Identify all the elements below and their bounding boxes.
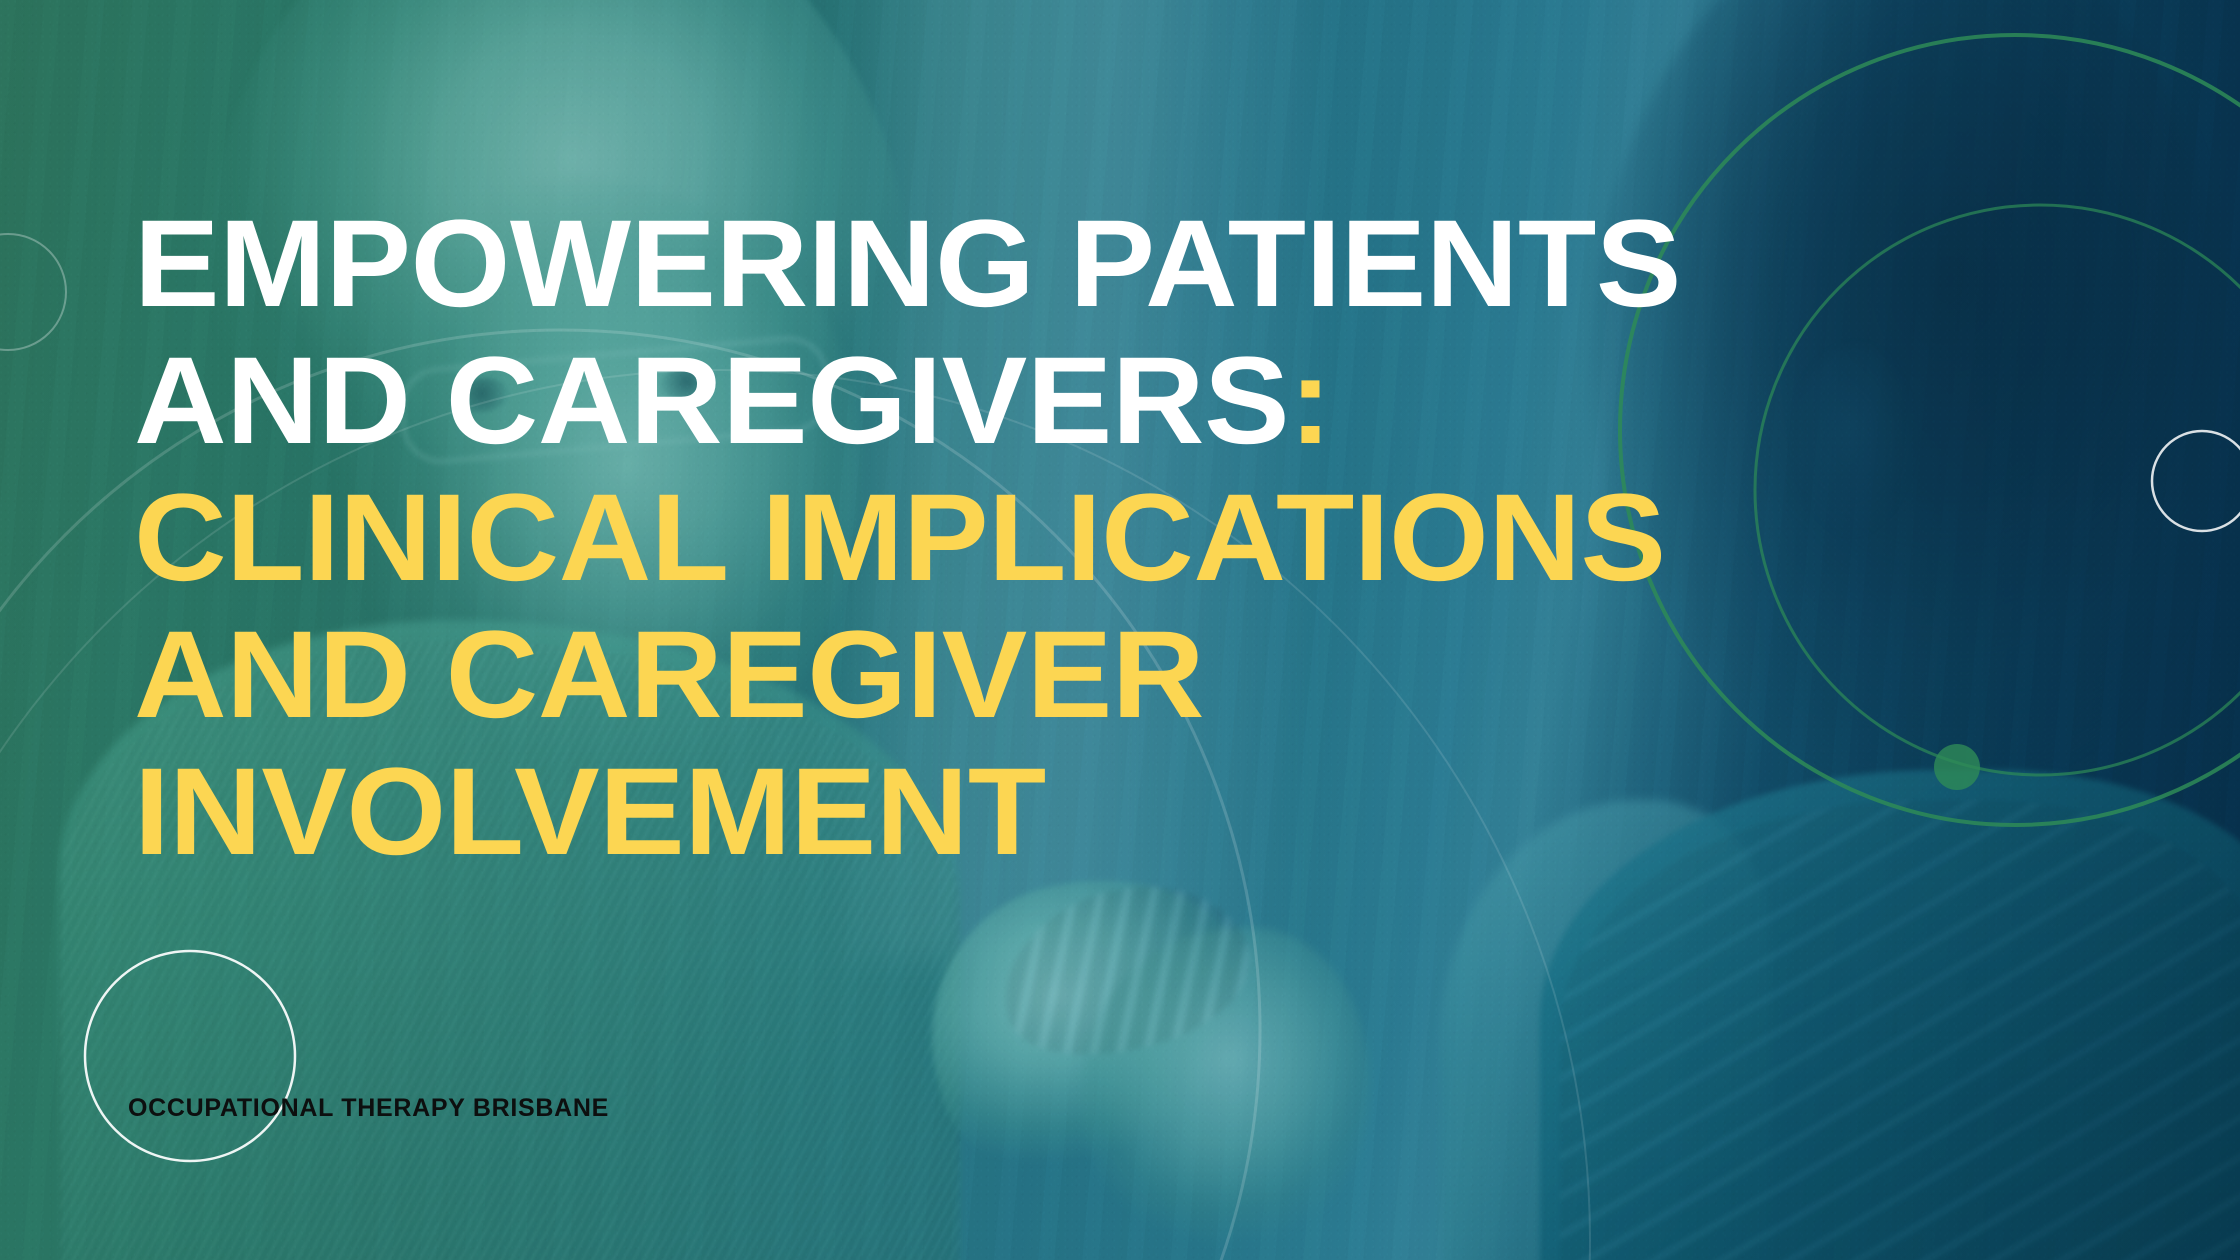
page-title: EMPOWERING PATIENTS AND CAREGIVERS: CLIN…: [134, 196, 2034, 881]
title-line-1: EMPOWERING PATIENTS: [134, 196, 2101, 333]
title-line-5: INVOLVEMENT: [134, 744, 2101, 881]
title-colon: :: [1289, 332, 1331, 470]
title-line-3: CLINICAL IMPLICATIONS: [134, 470, 2101, 607]
title-line-2: AND CAREGIVERS:: [134, 333, 2101, 470]
footer-organisation: OCCUPATIONAL THERAPY BRISBANE: [128, 1094, 609, 1123]
title-line-2-text: AND CAREGIVERS: [134, 332, 1289, 470]
title-line-4: AND CAREGIVER: [134, 607, 2101, 744]
title-slide: EMPOWERING PATIENTS AND CAREGIVERS: CLIN…: [0, 0, 2240, 1260]
